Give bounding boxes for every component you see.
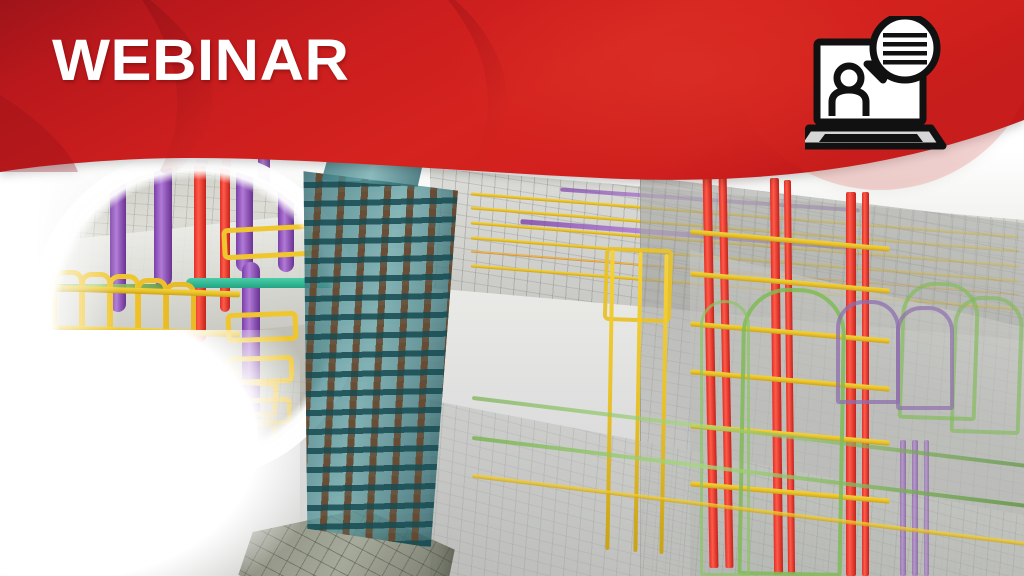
foreground-rc-column (264, 147, 506, 573)
webinar-laptop-icon (805, 16, 955, 156)
speech-line (883, 42, 927, 47)
speech-line (883, 51, 927, 56)
laptop-keyboard (819, 134, 923, 142)
rebar-vertical-purple (900, 440, 906, 576)
rebar-vertical-purple (912, 440, 918, 576)
rebar-stirrup-green (700, 300, 750, 576)
page-title: WEBINAR (52, 30, 349, 92)
webinar-banner-image: WEBINAR (0, 0, 1024, 576)
rebar-hook-purple (836, 300, 900, 404)
red-banner: WEBINAR (0, 0, 1024, 210)
rebar-stirrup-green (950, 295, 1024, 435)
rebar-vertical-purple (924, 440, 929, 576)
rebar-hook-purple (896, 306, 954, 410)
speech-line (883, 33, 927, 38)
column-stirrups (283, 163, 466, 548)
speech-bubble-icon (873, 16, 937, 80)
speech-line (883, 60, 927, 65)
